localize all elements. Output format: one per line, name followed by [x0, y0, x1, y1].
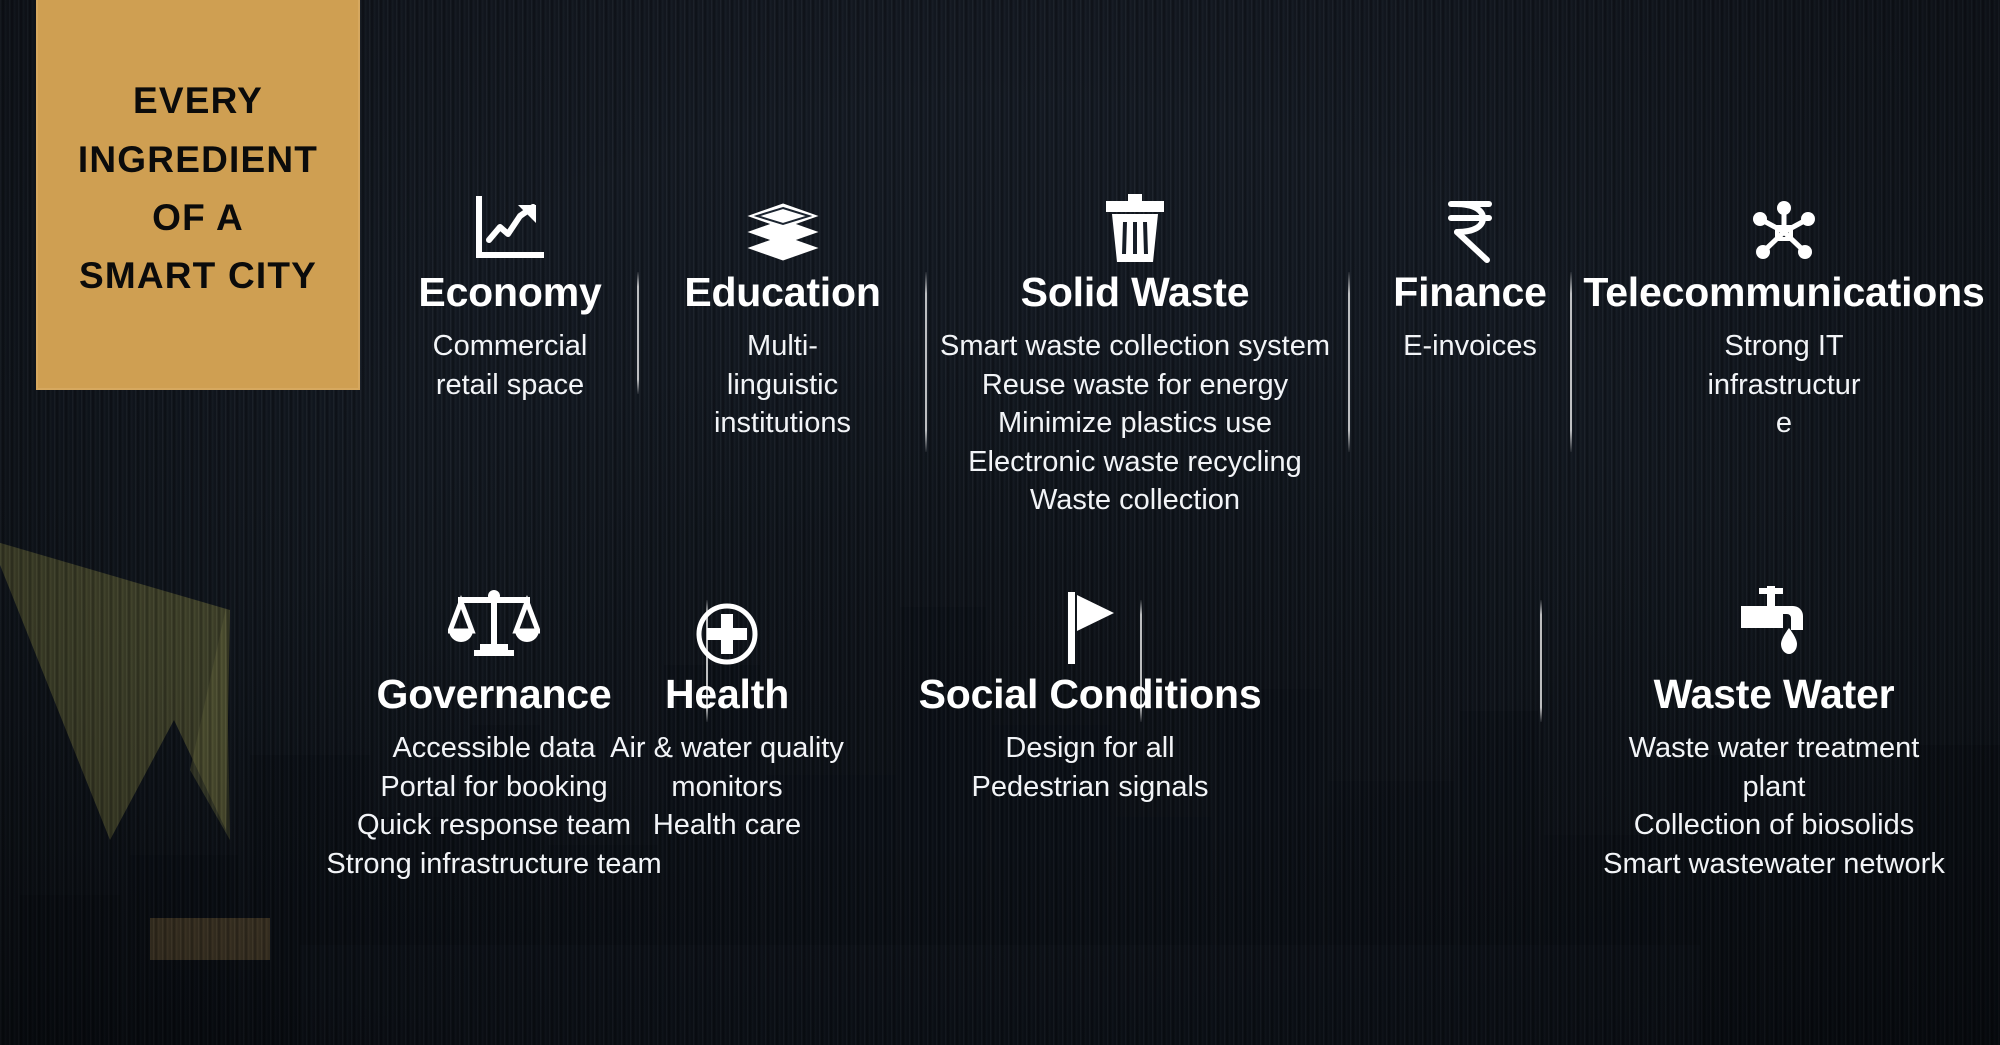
category-card-social-conditions[interactable]: Social Conditions Design for all Pedestr…	[898, 580, 1282, 806]
item: Pedestrian signals	[898, 768, 1282, 807]
category-items: Waste water treatment plant Collection o…	[1558, 729, 1990, 883]
network-nodes-icon	[1578, 178, 1990, 264]
item: retail space	[385, 366, 635, 405]
title-line-4: SMART CITY	[79, 247, 317, 305]
item: Strong IT	[1578, 327, 1990, 366]
divider-economy-education	[637, 272, 639, 394]
item: linguistic	[645, 366, 920, 405]
item: Waste collection	[900, 481, 1370, 520]
category-card-health[interactable]: Health Air & water quality monitors Heal…	[588, 580, 866, 845]
divider-social-wastewater	[1540, 600, 1542, 722]
category-items: Commercial retail space	[385, 327, 635, 404]
category-items: E-invoices	[1370, 327, 1570, 366]
item: Design for all	[898, 729, 1282, 768]
divider-finance-telecom	[1570, 272, 1572, 452]
item: monitors	[588, 768, 866, 807]
category-card-finance[interactable]: Finance E-invoices	[1370, 178, 1570, 366]
title-line-2: INGREDIENT	[78, 131, 318, 189]
category-title: Health	[588, 672, 866, 717]
category-card-solid-waste[interactable]: Solid Waste Smart waste collection syste…	[900, 178, 1370, 520]
category-items: Multi- linguistic institutions	[645, 327, 920, 443]
item: Electronic waste recycling	[900, 443, 1370, 482]
category-card-waste-water[interactable]: Waste Water Waste water treatment plant …	[1558, 580, 1990, 883]
item: E-invoices	[1370, 327, 1570, 366]
item: e	[1578, 404, 1990, 443]
item: infrastructur	[1578, 366, 1990, 405]
stacked-books-icon	[645, 178, 920, 264]
category-title: Solid Waste	[900, 270, 1370, 315]
item: Reuse waste for energy	[900, 366, 1370, 405]
category-items: Design for all Pedestrian signals	[898, 729, 1282, 806]
item: Waste water treatment	[1558, 729, 1990, 768]
item: Air & water quality	[588, 729, 866, 768]
growth-chart-icon	[385, 178, 635, 264]
category-title: Social Conditions	[898, 672, 1282, 717]
item: Commercial	[385, 327, 635, 366]
item: Collection of biosolids	[1558, 806, 1990, 845]
item: Minimize plastics use	[900, 404, 1370, 443]
category-items: Strong IT infrastructur e	[1578, 327, 1990, 443]
title-line-3: OF A	[152, 189, 244, 247]
category-title: Finance	[1370, 270, 1570, 315]
item: institutions	[645, 404, 920, 443]
item: Strong infrastructure team	[288, 845, 700, 884]
medical-cross-circle-icon	[588, 580, 866, 666]
category-items: Air & water quality monitors Health care	[588, 729, 866, 845]
pennant-flag-icon	[898, 580, 1282, 666]
title-line-1: EVERY	[133, 72, 263, 130]
category-card-education[interactable]: Education Multi- linguistic institutions	[645, 178, 920, 443]
faucet-drop-icon	[1558, 580, 1990, 666]
category-card-telecommunications[interactable]: Telecommunications Strong IT infrastruct…	[1578, 178, 1990, 443]
rupee-icon	[1370, 178, 1570, 264]
category-title: Telecommunications	[1578, 270, 1990, 315]
item: Health care	[588, 806, 866, 845]
category-title: Education	[645, 270, 920, 315]
page-title: EVERY INGREDIENT OF A SMART CITY	[36, 0, 360, 390]
item: Multi-	[645, 327, 920, 366]
item: Smart wastewater network	[1558, 845, 1990, 884]
category-items: Smart waste collection system Reuse wast…	[900, 327, 1370, 520]
trash-can-icon	[900, 178, 1370, 264]
category-title: Waste Water	[1558, 672, 1990, 717]
category-card-economy[interactable]: Economy Commercial retail space	[385, 178, 635, 404]
infographic-content: EVERY INGREDIENT OF A SMART CITY Economy…	[0, 0, 2000, 1045]
item: Smart waste collection system	[900, 327, 1370, 366]
category-title: Economy	[385, 270, 635, 315]
item: plant	[1558, 768, 1990, 807]
